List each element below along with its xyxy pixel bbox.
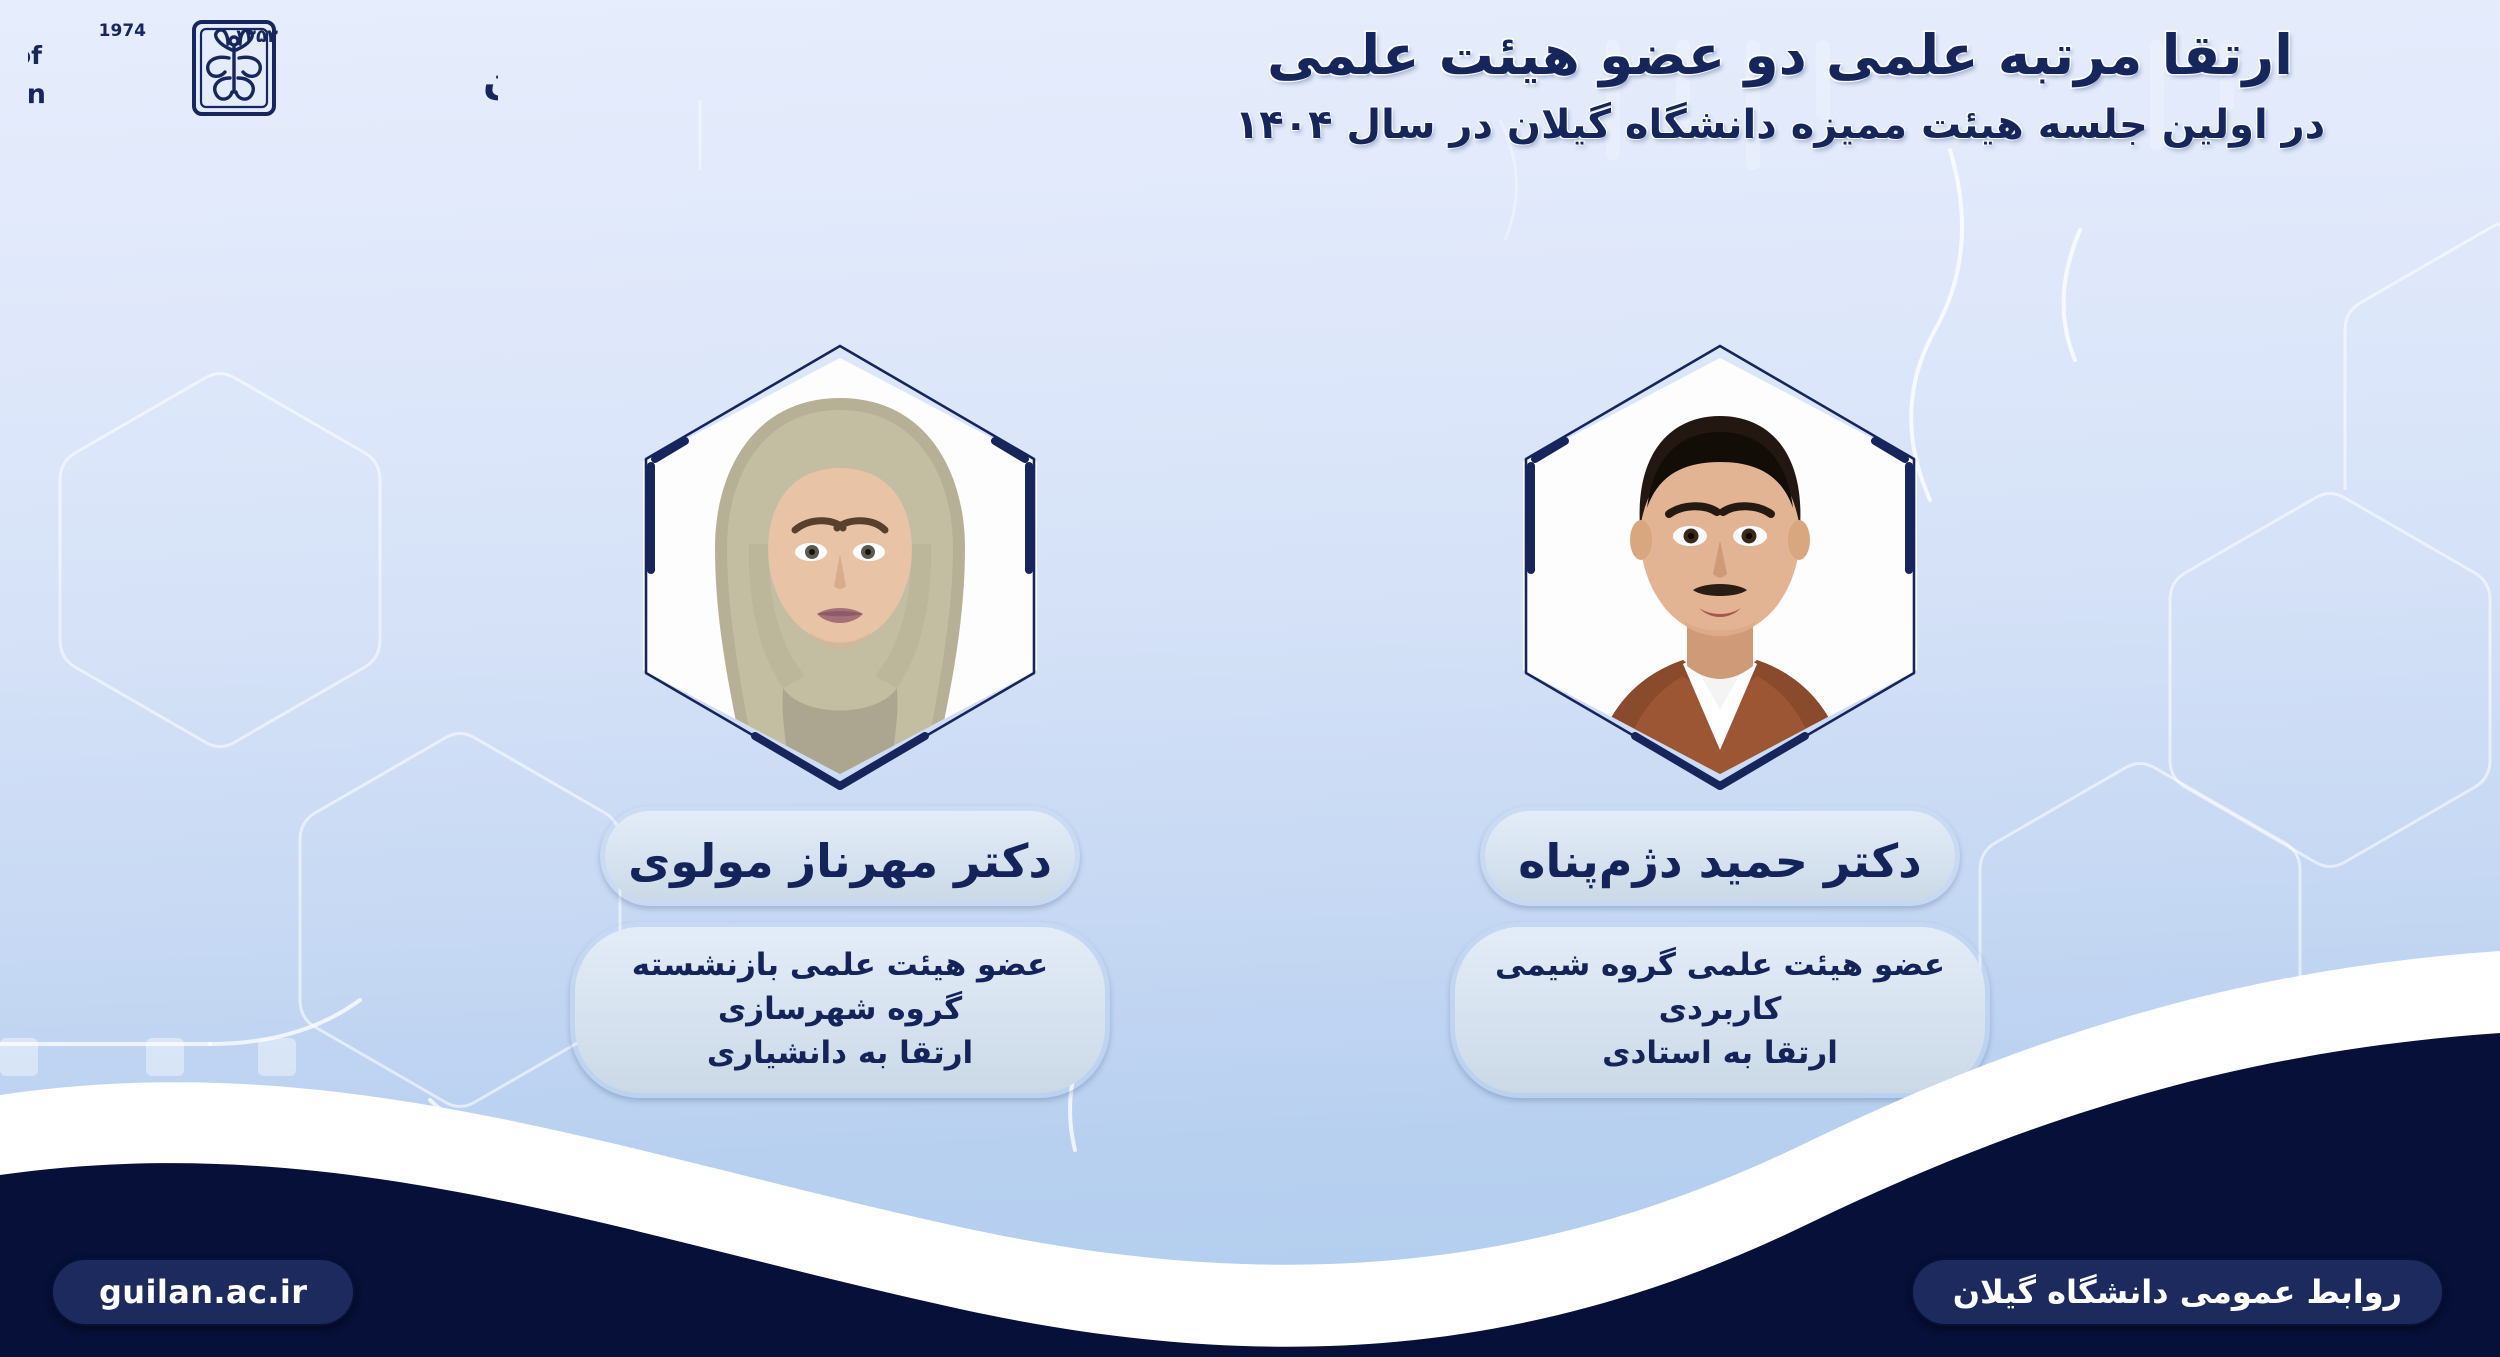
person-name-plate: دکتر مهرناز مولوی — [600, 806, 1080, 906]
logo-persian-name: دانشگاه گیلان — [483, 57, 498, 104]
person-role-line1: عضو هیئت علمی بازنشسته گروه شهرسازی — [597, 943, 1083, 1031]
hexagon-frame-icon — [1505, 340, 1935, 792]
person-card: دکتر مهرناز مولوی عضو هیئت علمی بازنشسته… — [520, 340, 1160, 1098]
logo-year-persian: ۱۳۵۳ — [234, 26, 278, 47]
page-title: ارتقا مرتبه علمی دو عضو هیئت علمی — [1120, 22, 2440, 89]
website-badge[interactable]: guilan.ac.ir — [50, 1257, 356, 1327]
person-role-plate: عضو هیئت علمی گروه شیمی کاربردی ارتقا به… — [1450, 922, 1990, 1098]
page-subtitle: در اولین جلسه هیئت ممیزه دانشگاه گیلان د… — [1120, 99, 2440, 151]
person-card: دکتر حمید دژم‌پناه عضو هیئت علمی گروه شی… — [1400, 340, 2040, 1098]
person-role-line2: ارتقا به استادی — [1477, 1031, 1963, 1075]
people-row: دکتر حمید دژم‌پناه عضو هیئت علمی گروه شی… — [0, 340, 2500, 1080]
poster-canvas: University of Guilan 1974 ۱۳ — [0, 0, 2500, 1357]
person-role-line2: ارتقا به دانشیاری — [597, 1031, 1083, 1075]
logo-english-line1: University of — [28, 41, 43, 70]
university-logo: University of Guilan 1974 ۱۳ — [28, 8, 498, 126]
website-url: guilan.ac.ir — [99, 1273, 307, 1311]
logo-year-latin: 1974 — [99, 21, 146, 41]
avatar — [1505, 340, 1935, 792]
public-relations-label: روابط عمومی دانشگاه گیلان — [1953, 1273, 2402, 1311]
avatar — [625, 340, 1055, 792]
person-role-line1: عضو هیئت علمی گروه شیمی کاربردی — [1477, 943, 1963, 1031]
person-name-plate: دکتر حمید دژم‌پناه — [1480, 806, 1960, 906]
hexagon-frame-icon — [625, 340, 1055, 792]
logo-english-line2: Guilan — [28, 79, 50, 110]
headings-block: ارتقا مرتبه علمی دو عضو هیئت علمی در اول… — [1120, 22, 2440, 151]
person-name: دکتر حمید دژم‌پناه — [1518, 834, 1921, 888]
person-name: دکتر مهرناز مولوی — [628, 834, 1052, 888]
person-role-plate: عضو هیئت علمی بازنشسته گروه شهرسازی ارتق… — [570, 922, 1110, 1098]
public-relations-badge[interactable]: روابط عمومی دانشگاه گیلان — [1910, 1257, 2445, 1327]
